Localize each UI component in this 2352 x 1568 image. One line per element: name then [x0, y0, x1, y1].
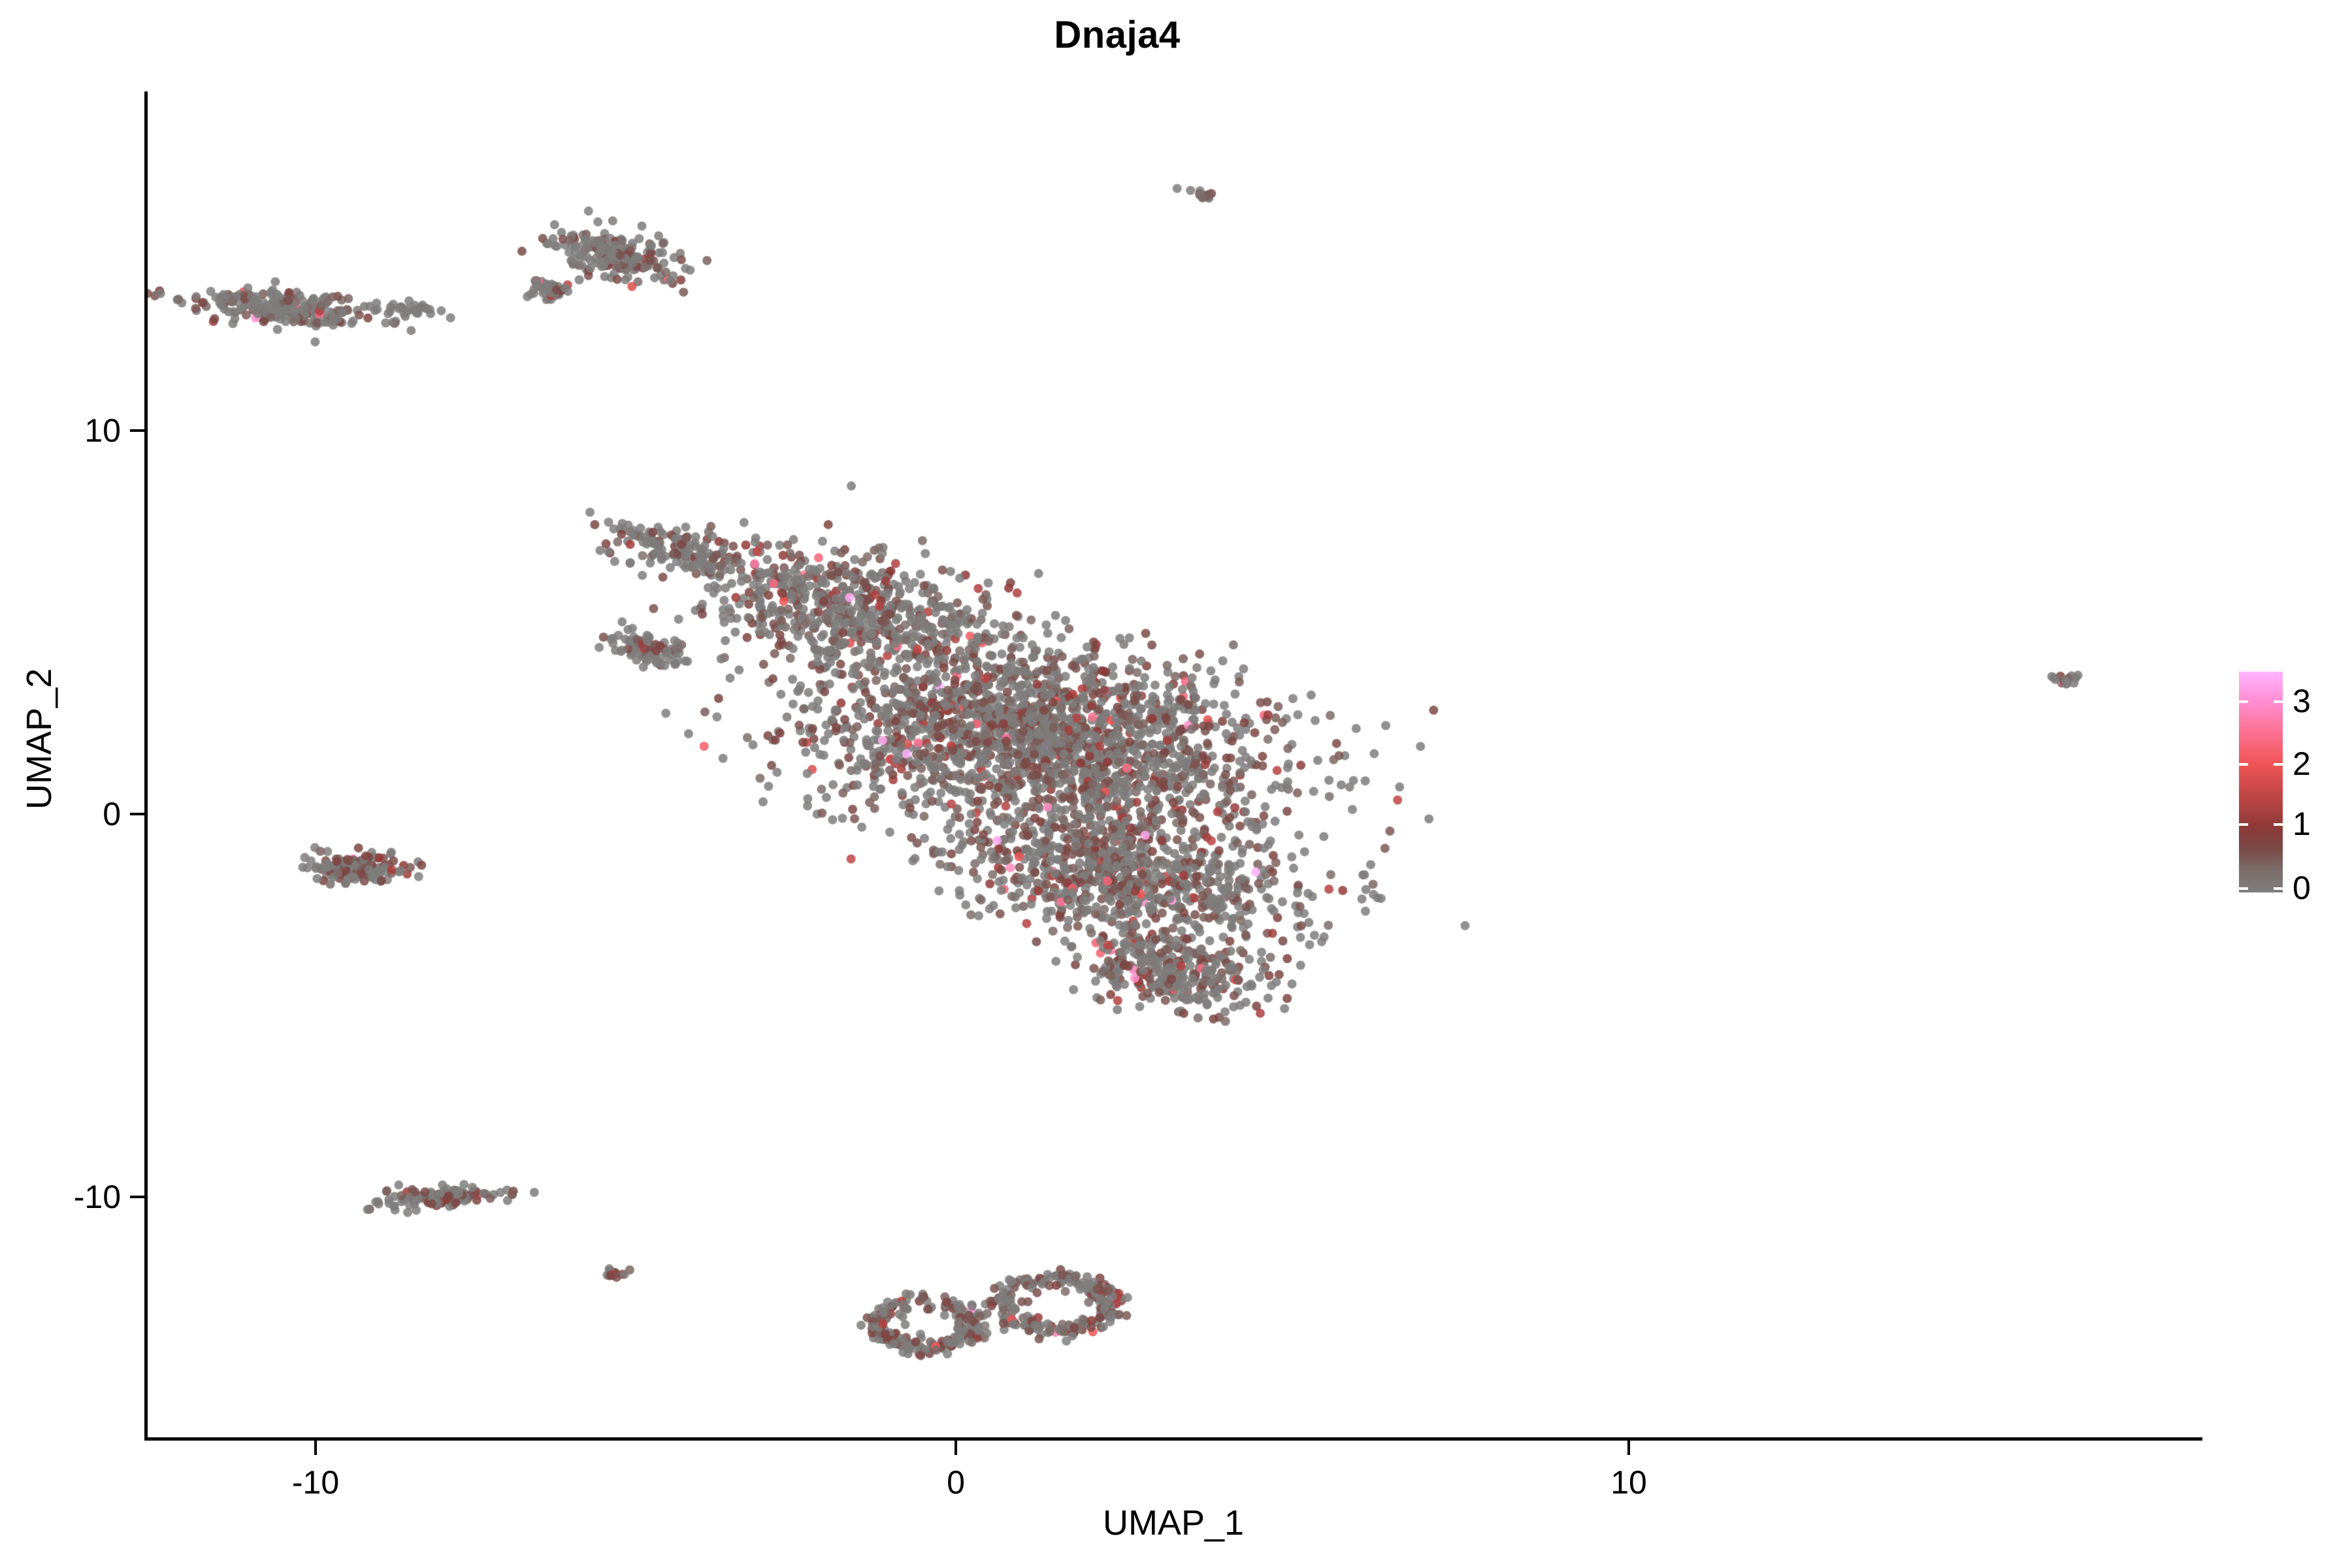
- y-axis-line: [144, 91, 148, 1441]
- x-axis-title: UMAP_1: [144, 1503, 2202, 1543]
- x-axis-line: [144, 1437, 2202, 1441]
- legend-label-0: 0: [2293, 872, 2311, 904]
- umap-feature-plot: Dnaja4 -10 0 10 10 0 -10 UMAP_1 UMAP_2 3…: [0, 0, 2352, 1568]
- legend-label-2: 2: [2293, 747, 2311, 780]
- x-tick-mark-0: [314, 1441, 317, 1455]
- y-tick-label-2: -10: [0, 1178, 121, 1216]
- legend-tick-1-left: [2239, 823, 2248, 826]
- legend-tick-3-right: [2274, 700, 2283, 703]
- y-tick-label-1: 0: [0, 795, 121, 833]
- legend-tick-3-left: [2239, 700, 2248, 703]
- y-tick-mark-1: [130, 813, 144, 815]
- x-tick-mark-1: [955, 1441, 957, 1455]
- legend-tick-0-right: [2274, 887, 2283, 890]
- legend-colorbar: [2239, 672, 2283, 892]
- y-axis-title: UMAP_2: [19, 510, 59, 968]
- legend-tick-2-right: [2274, 763, 2283, 766]
- y-tick-label-0: 10: [0, 412, 121, 449]
- y-tick-mark-0: [130, 429, 144, 432]
- x-tick-label-2: 10: [1550, 1463, 1707, 1501]
- legend-label-3: 3: [2293, 685, 2311, 717]
- legend-tick-2-left: [2239, 763, 2248, 766]
- y-tick-mark-2: [130, 1196, 144, 1198]
- x-tick-label-1: 0: [877, 1463, 1034, 1501]
- legend-label-1: 1: [2293, 808, 2311, 840]
- page-title: Dnaja4: [0, 13, 2234, 57]
- scatter-points-layer: [144, 91, 2202, 1439]
- plot-panel: [144, 91, 2202, 1439]
- legend-tick-1-right: [2274, 823, 2283, 826]
- legend-tick-0-left: [2239, 887, 2248, 890]
- color-legend: 3 2 1 0: [2239, 672, 2337, 894]
- x-tick-label-0: -10: [237, 1463, 394, 1501]
- x-tick-mark-2: [1627, 1441, 1630, 1455]
